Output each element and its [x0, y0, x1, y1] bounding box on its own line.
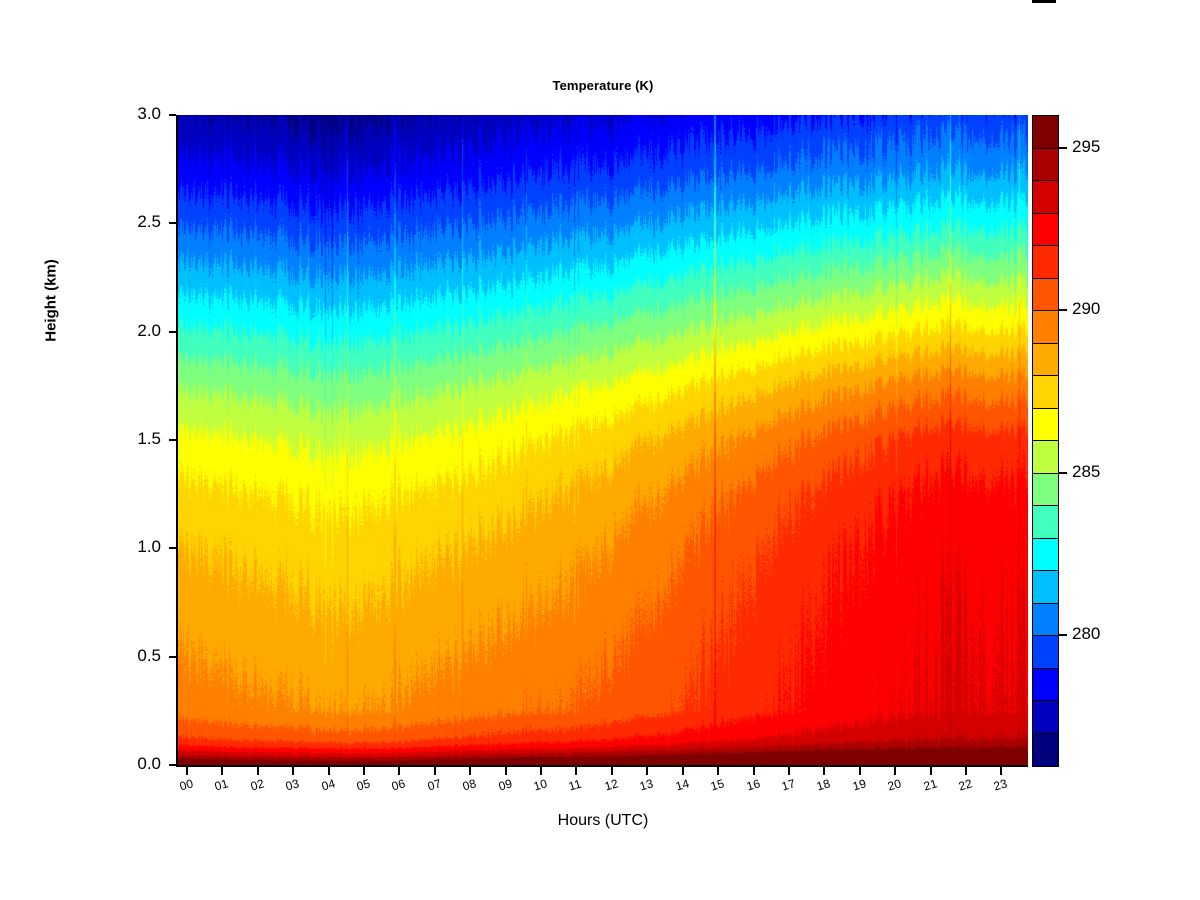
colorbar-tick-mark	[1058, 472, 1067, 474]
x-axis-tick-label: 23	[992, 776, 1009, 793]
colorbar-band	[1033, 116, 1058, 149]
x-axis-tick-mark	[257, 767, 259, 775]
x-axis-tick-mark	[575, 767, 577, 775]
y-axis-tick-mark	[169, 656, 176, 658]
y-axis-tick-mark	[169, 547, 176, 549]
colorbar-band	[1033, 604, 1058, 637]
colorbar-band	[1033, 441, 1058, 474]
x-axis-tick-label: 08	[461, 776, 478, 793]
x-axis-tick-mark	[753, 767, 755, 775]
x-axis-tick-mark	[717, 767, 719, 775]
x-axis-title: Hours (UTC)	[178, 812, 1028, 830]
colorbar-band	[1033, 539, 1058, 572]
x-axis-tick-mark	[1000, 767, 1002, 775]
x-axis-tick-mark	[788, 767, 790, 775]
x-axis-tick-label: 03	[284, 776, 301, 793]
y-axis-tick-mark	[169, 439, 176, 441]
colorbar	[1032, 115, 1059, 767]
y-axis-tick-label: 0.0	[66, 754, 161, 774]
x-axis-tick-mark	[434, 767, 436, 775]
x-axis-tick-mark	[540, 767, 542, 775]
y-axis-title: Height (km)	[43, 211, 60, 391]
x-axis-tick-mark	[682, 767, 684, 775]
y-axis-tick-label: 2.5	[66, 212, 161, 232]
colorbar-tick-mark	[1058, 634, 1067, 636]
colorbar-band	[1033, 311, 1058, 344]
x-axis-tick-mark	[469, 767, 471, 775]
colorbar-band	[1033, 149, 1058, 182]
x-axis-tick-mark	[505, 767, 507, 775]
x-axis-tick-label: 10	[532, 776, 549, 793]
colorbar-band	[1033, 734, 1058, 767]
x-axis-tick-label: 12	[603, 776, 620, 793]
x-axis-tick-mark	[646, 767, 648, 775]
y-axis-tick-label: 0.5	[66, 646, 161, 666]
x-axis-tick-mark	[363, 767, 365, 775]
x-axis-tick-mark	[292, 767, 294, 775]
x-axis-tick-label: 15	[709, 776, 726, 793]
x-axis-tick-label: 18	[815, 776, 832, 793]
x-axis-tick-mark	[930, 767, 932, 775]
x-axis-tick-mark	[823, 767, 825, 775]
x-axis-tick-label: 05	[355, 776, 372, 793]
x-axis-tick-mark	[398, 767, 400, 775]
y-axis-tick-label: 1.0	[66, 537, 161, 557]
colorbar-band	[1033, 409, 1058, 442]
y-axis-tick-label: 3.0	[66, 104, 161, 124]
colorbar-band	[1033, 571, 1058, 604]
y-axis-tick-mark	[169, 222, 176, 224]
figure-canvas: Temperature (K) 0.00.51.01.52.02.53.0 00…	[0, 0, 1200, 900]
colorbar-tick-label: 295	[1072, 137, 1100, 157]
x-axis-tick-mark	[859, 767, 861, 775]
x-axis-tick-label: 22	[957, 776, 974, 793]
x-axis-tick-label: 16	[745, 776, 762, 793]
colorbar-band	[1033, 636, 1058, 669]
x-axis-tick-label: 09	[497, 776, 514, 793]
colorbar-band	[1033, 279, 1058, 312]
colorbar-band	[1033, 344, 1058, 377]
x-axis-tick-label: 14	[674, 776, 691, 793]
x-axis-tick-label: 07	[426, 776, 443, 793]
colorbar-band	[1033, 474, 1058, 507]
colorbar-band	[1033, 376, 1058, 409]
colorbar-tick-mark	[1058, 147, 1067, 149]
x-axis-tick-label: 21	[922, 776, 939, 793]
corner-artifact-mark	[1032, 0, 1056, 3]
x-axis-tick-label: 01	[213, 776, 230, 793]
y-axis-tick-mark	[169, 331, 176, 333]
x-axis-tick-mark	[611, 767, 613, 775]
colorbar-band	[1033, 701, 1058, 734]
colorbar-band	[1033, 506, 1058, 539]
colorbar-band	[1033, 214, 1058, 247]
x-axis-tick-mark	[328, 767, 330, 775]
x-axis-tick-label: 04	[320, 776, 337, 793]
x-axis-tick-label: 13	[638, 776, 655, 793]
colorbar-tick-label: 290	[1072, 299, 1100, 319]
x-axis-tick-label: 00	[178, 776, 195, 793]
y-axis-tick-label: 2.0	[66, 321, 161, 341]
x-axis-tick-mark	[894, 767, 896, 775]
x-axis-tick-mark	[186, 767, 188, 775]
axis-spine-bottom	[176, 765, 1028, 767]
x-axis-tick-label: 19	[851, 776, 868, 793]
y-axis-tick-mark	[169, 114, 176, 116]
colorbar-tick-label: 280	[1072, 624, 1100, 644]
temperature-heatmap	[178, 115, 1028, 765]
colorbar-tick-mark	[1058, 309, 1067, 311]
x-axis-tick-mark	[965, 767, 967, 775]
colorbar-tick-label: 285	[1072, 462, 1100, 482]
page-title: Temperature (K)	[178, 78, 1028, 93]
x-axis-tick-label: 17	[780, 776, 797, 793]
heatmap-panel	[178, 115, 1028, 765]
x-axis-tick-label: 02	[249, 776, 266, 793]
colorbar-band	[1033, 246, 1058, 279]
y-axis-tick-mark	[169, 764, 176, 766]
x-axis-tick-label: 06	[390, 776, 407, 793]
x-axis-tick-mark	[221, 767, 223, 775]
y-axis-tick-label: 1.5	[66, 429, 161, 449]
colorbar-band	[1033, 181, 1058, 214]
x-axis-tick-label: 20	[886, 776, 903, 793]
axis-spine-left	[176, 115, 178, 765]
colorbar-band	[1033, 669, 1058, 702]
x-axis-tick-label: 11	[567, 777, 583, 794]
